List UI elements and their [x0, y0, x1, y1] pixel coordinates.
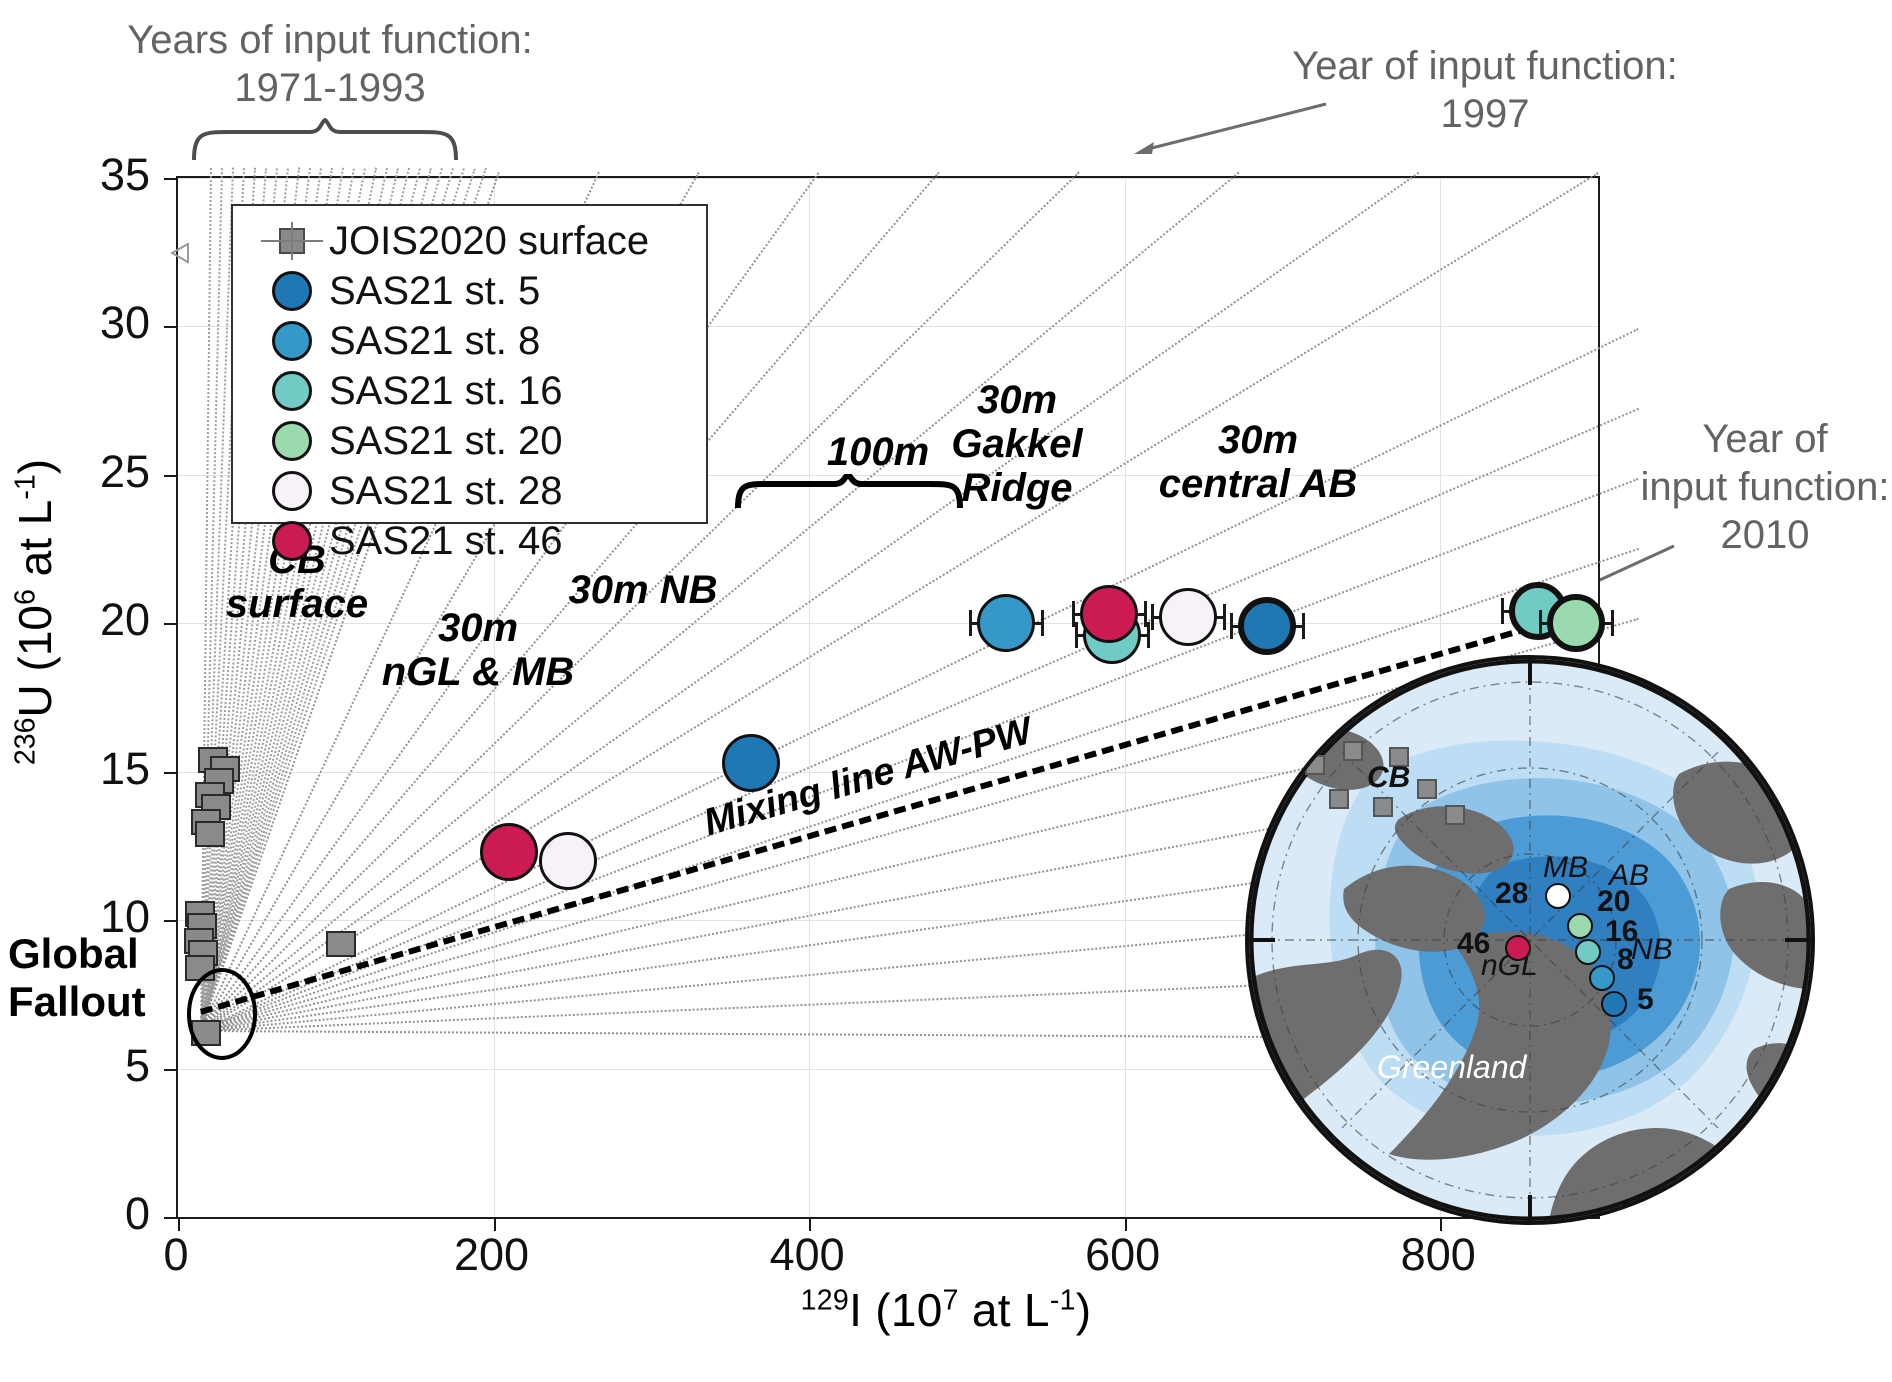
global-fallout-circle — [184, 966, 260, 1062]
y-tick-label: 30 — [0, 300, 150, 345]
map-station-point-28 — [1545, 883, 1571, 909]
gridline-vertical — [809, 178, 810, 1217]
x-tick-label: 0 — [96, 1232, 256, 1277]
map-label-greenland: Greenland — [1377, 1049, 1526, 1086]
data-point-sas21-st-28 — [539, 832, 597, 890]
x-axis-title: 129I (107 at L-1) — [0, 1283, 1892, 1337]
y-tick-label: 0 — [0, 1191, 150, 1236]
map-label-mb: MB — [1543, 851, 1588, 885]
map-jois-square — [1343, 741, 1363, 761]
legend-circle-icon — [272, 471, 312, 511]
legend-circle-icon — [272, 421, 312, 461]
x-tick-label: 800 — [1358, 1232, 1518, 1277]
data-point-sas21-st-46 — [480, 823, 538, 881]
legend-marker — [255, 268, 329, 314]
legend: JOIS2020 surfaceSAS21 st. 5SAS21 st. 8SA… — [231, 204, 708, 524]
callout-year-1997: Year of input function: 1997 — [1275, 42, 1695, 138]
map-station-point-46 — [1505, 935, 1531, 961]
map-station-number-8: 8 — [1617, 943, 1634, 977]
data-point-sas21-st-5 — [722, 734, 780, 792]
legend-errorbar-vertical — [291, 222, 293, 260]
data-point-errorbar-cap — [1302, 613, 1305, 639]
legend-item-label: SAS21 st. 16 — [329, 369, 562, 414]
brace-100m — [734, 474, 964, 510]
label-30m-nb: 30m NB — [508, 568, 778, 612]
legend-item-sas21-st-20[interactable]: SAS21 st. 20 — [233, 416, 706, 466]
map-jois-square — [1417, 779, 1437, 799]
data-point-errorbar-cap — [1230, 613, 1233, 639]
x-axis-unit: at L — [959, 1284, 1050, 1336]
map-station-number-46: 46 — [1457, 927, 1490, 961]
map-jois-square — [1445, 805, 1465, 825]
data-point-errorbar-cap — [969, 610, 972, 636]
y-axis-tick — [164, 1217, 178, 1219]
map-station-number-5: 5 — [1637, 983, 1654, 1017]
legend-item-label: SAS21 st. 5 — [329, 269, 540, 314]
map-station-number-20: 20 — [1597, 885, 1630, 919]
legend-item-label: SAS21 st. 46 — [329, 519, 562, 564]
data-point-errorbar-cap — [1501, 598, 1504, 624]
map-station-point-5 — [1601, 991, 1627, 1017]
brace-years-input — [190, 118, 460, 162]
y-tick-label: 20 — [0, 597, 150, 642]
legend-marker — [255, 318, 329, 364]
legend-item-label: SAS21 st. 28 — [329, 469, 562, 514]
data-point-sas21-st-46 — [1080, 585, 1138, 643]
legend-circle-icon — [272, 271, 312, 311]
legend-item-label: SAS21 st. 8 — [329, 319, 540, 364]
legend-rows: JOIS2020 surfaceSAS21 st. 5SAS21 st. 8SA… — [233, 216, 706, 566]
legend-item-jois2020-surface[interactable]: JOIS2020 surface — [233, 216, 706, 266]
map-svg — [1249, 659, 1811, 1221]
map-jois-square — [1305, 755, 1325, 775]
data-point-jois2020 — [195, 821, 225, 847]
x-axis-element: I (10 — [849, 1284, 943, 1336]
map-jois-square — [1329, 789, 1349, 809]
x-axis-isotope: 129 — [801, 1285, 849, 1317]
legend-circle-icon — [272, 521, 312, 561]
legend-item-label: SAS21 st. 20 — [329, 419, 562, 464]
data-point-errorbar-cap — [1075, 622, 1078, 648]
label-central-ab: 30m central AB — [1108, 418, 1408, 506]
x-tick-label: 400 — [727, 1232, 887, 1277]
y-axis-tick — [164, 1069, 178, 1071]
data-point-sas21-st-5 — [1238, 597, 1296, 655]
y-tick-label: 25 — [0, 449, 150, 494]
legend-item-sas21-st-5[interactable]: SAS21 st. 5 — [233, 266, 706, 316]
data-point-errorbar-cap — [1151, 604, 1154, 630]
inset-map-arctic: CB MB AB NB nGL Greenland 28 20 16 8 46 … — [1245, 655, 1815, 1225]
axis-triangle-marker — [168, 240, 194, 266]
legend-item-label: JOIS2020 surface — [329, 219, 649, 264]
y-tick-label: 10 — [0, 894, 150, 939]
legend-marker — [255, 518, 329, 564]
legend-item-sas21-st-16[interactable]: SAS21 st. 16 — [233, 366, 706, 416]
data-point-errorbar-cap — [1147, 622, 1150, 648]
x-tick-label: 200 — [412, 1232, 572, 1277]
x-tick-label: 600 — [1043, 1232, 1203, 1277]
data-point-jois2020 — [326, 931, 356, 957]
x-axis-exponent: 7 — [943, 1285, 959, 1317]
y-axis-tick — [164, 772, 178, 774]
y-axis-tick — [164, 178, 178, 180]
y-tick-label: 5 — [0, 1043, 150, 1088]
legend-item-sas21-st-8[interactable]: SAS21 st. 8 — [233, 316, 706, 366]
gridline-vertical — [1125, 178, 1126, 1217]
y-axis-unit: at L — [9, 500, 61, 590]
legend-circle-icon — [272, 321, 312, 361]
legend-item-sas21-st-28[interactable]: SAS21 st. 28 — [233, 466, 706, 516]
legend-marker — [255, 418, 329, 464]
map-station-point-16 — [1575, 939, 1601, 965]
y-tick-label: 15 — [0, 746, 150, 791]
data-point-sas21-st-28 — [1159, 588, 1217, 646]
x-axis-negexp: -1 — [1050, 1285, 1076, 1317]
y-axis-tick — [164, 475, 178, 477]
x-axis-close: ) — [1076, 1284, 1092, 1336]
legend-circle-icon — [272, 371, 312, 411]
map-station-point-8 — [1589, 965, 1615, 991]
map-label-cb: CB — [1367, 761, 1410, 795]
map-station-number-28: 28 — [1495, 877, 1528, 911]
data-point-sas21-st-8 — [977, 594, 1035, 652]
y-axis-tick — [164, 623, 178, 625]
data-point-errorbar-cap — [1223, 604, 1226, 630]
map-jois-square — [1373, 797, 1393, 817]
arrow-1997 — [1130, 98, 1330, 158]
legend-marker — [255, 218, 329, 264]
legend-item-sas21-st-46[interactable]: SAS21 st. 46 — [233, 516, 706, 566]
map-station-point-20 — [1567, 913, 1593, 939]
y-tick-label: 35 — [0, 152, 150, 197]
legend-marker — [255, 468, 329, 514]
data-point-errorbar-cap — [1539, 610, 1542, 636]
data-point-errorbar-cap — [1041, 610, 1044, 636]
callout-years-input-function: Years of input function: 1971-1993 — [100, 16, 560, 112]
legend-marker — [255, 368, 329, 414]
data-point-errorbar-cap — [1144, 601, 1147, 627]
data-point-errorbar-cap — [1072, 601, 1075, 627]
callout-year-2010: Year of input function: 2010 — [1630, 415, 1892, 559]
y-axis-tick — [164, 326, 178, 328]
gridline-horizontal — [178, 178, 1598, 179]
data-point-sas21-st-20 — [1547, 594, 1605, 652]
y-axis-tick — [164, 920, 178, 922]
figure-root: Years of input function: 1971-1993 Year … — [0, 0, 1892, 1382]
data-point-errorbar-cap — [1611, 610, 1614, 636]
label-ngl-mb: 30m nGL & MB — [328, 606, 628, 694]
